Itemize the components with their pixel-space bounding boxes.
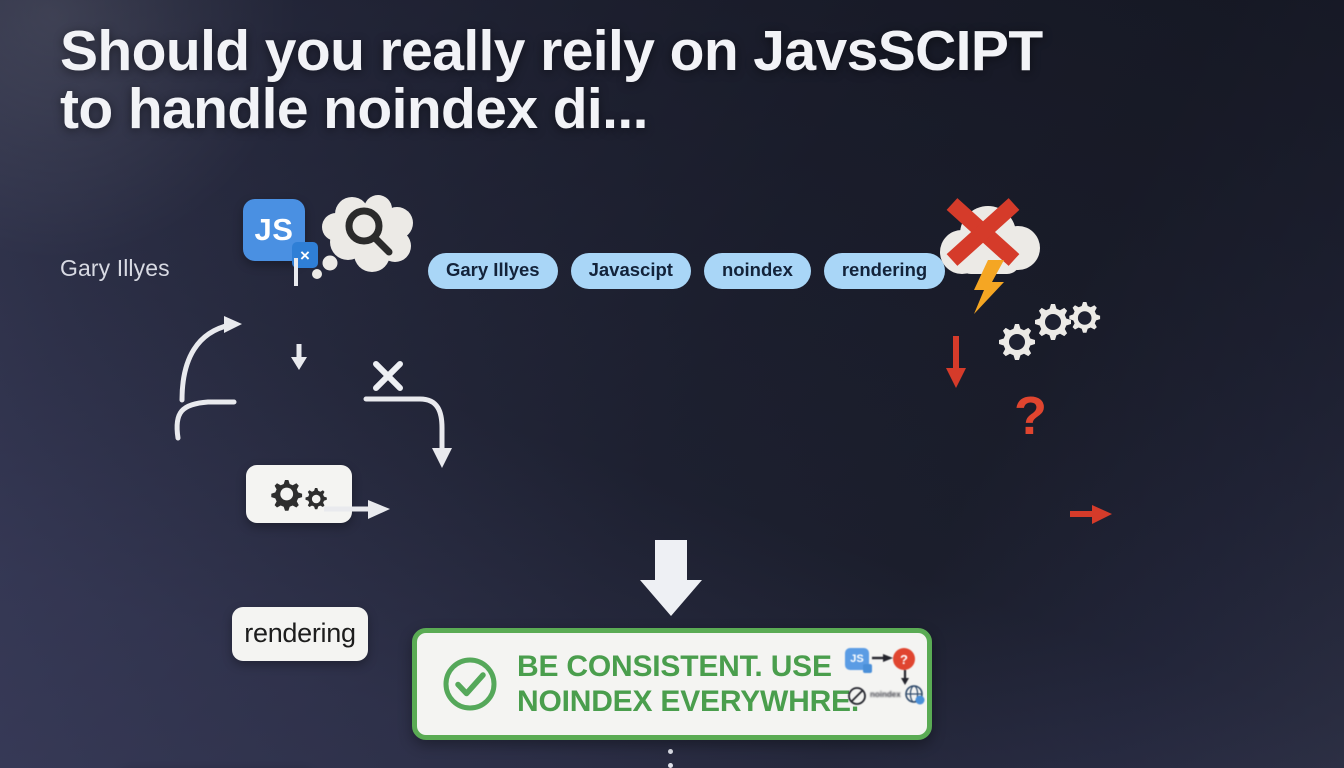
down-arrow-icon <box>638 540 704 618</box>
gears-to-rendering-arrow <box>288 344 314 372</box>
tag-chip[interactable]: rendering <box>824 253 945 289</box>
page-title: Should you really reily on JavsSCIPT to … <box>60 22 1090 138</box>
mini-no-entry-icon <box>847 686 867 706</box>
uncertainty-question-mark: ? <box>1014 389 1047 443</box>
tag-chip[interactable]: Gary Illyes <box>428 253 558 289</box>
mini-question-badge: ? <box>893 648 915 670</box>
tag-list: Gary Illyes Javascipt noindex rendering <box>428 253 1344 289</box>
cloud-to-clock-arrow <box>943 336 971 390</box>
feedback-loop-arrow <box>168 300 278 440</box>
js-label: JS <box>255 212 294 248</box>
tag-chip[interactable]: noindex <box>704 253 811 289</box>
mini-diagram: JS ? noindex <box>845 648 917 710</box>
rendering-label: rendering <box>244 618 355 649</box>
banner-line-2: NOINDEX EVERYWHRE. <box>517 684 859 719</box>
mini-arrow-icon <box>872 652 894 664</box>
mini-js-badge-icon <box>863 664 872 673</box>
js-to-gears-connector <box>288 258 304 292</box>
infographic-canvas: Should you really reily on JavsSCIPT to … <box>0 0 1344 768</box>
check-circle-outline-icon <box>441 655 499 713</box>
warning-to-noindex-arrow <box>1070 503 1116 527</box>
mini-noindex-label: noindex <box>870 690 901 699</box>
blocked-x-icon <box>370 358 406 394</box>
rendering-to-noindex-arrow <box>366 392 466 482</box>
magnifier-thought-bubble-icon <box>300 196 420 291</box>
mini-down-arrow-icon <box>899 670 911 686</box>
banner-line-1: BE CONSISTENT. USE <box>517 649 859 684</box>
mini-globe-icon <box>905 685 925 705</box>
banner-text: BE CONSISTENT. USE NOINDEX EVERYWHRE. <box>517 649 859 720</box>
tag-chip[interactable]: Javascipt <box>571 253 691 289</box>
gears-icon <box>985 290 1110 386</box>
rendering-card: rendering <box>232 607 368 661</box>
indexed-to-noindex-arrow <box>324 498 396 522</box>
